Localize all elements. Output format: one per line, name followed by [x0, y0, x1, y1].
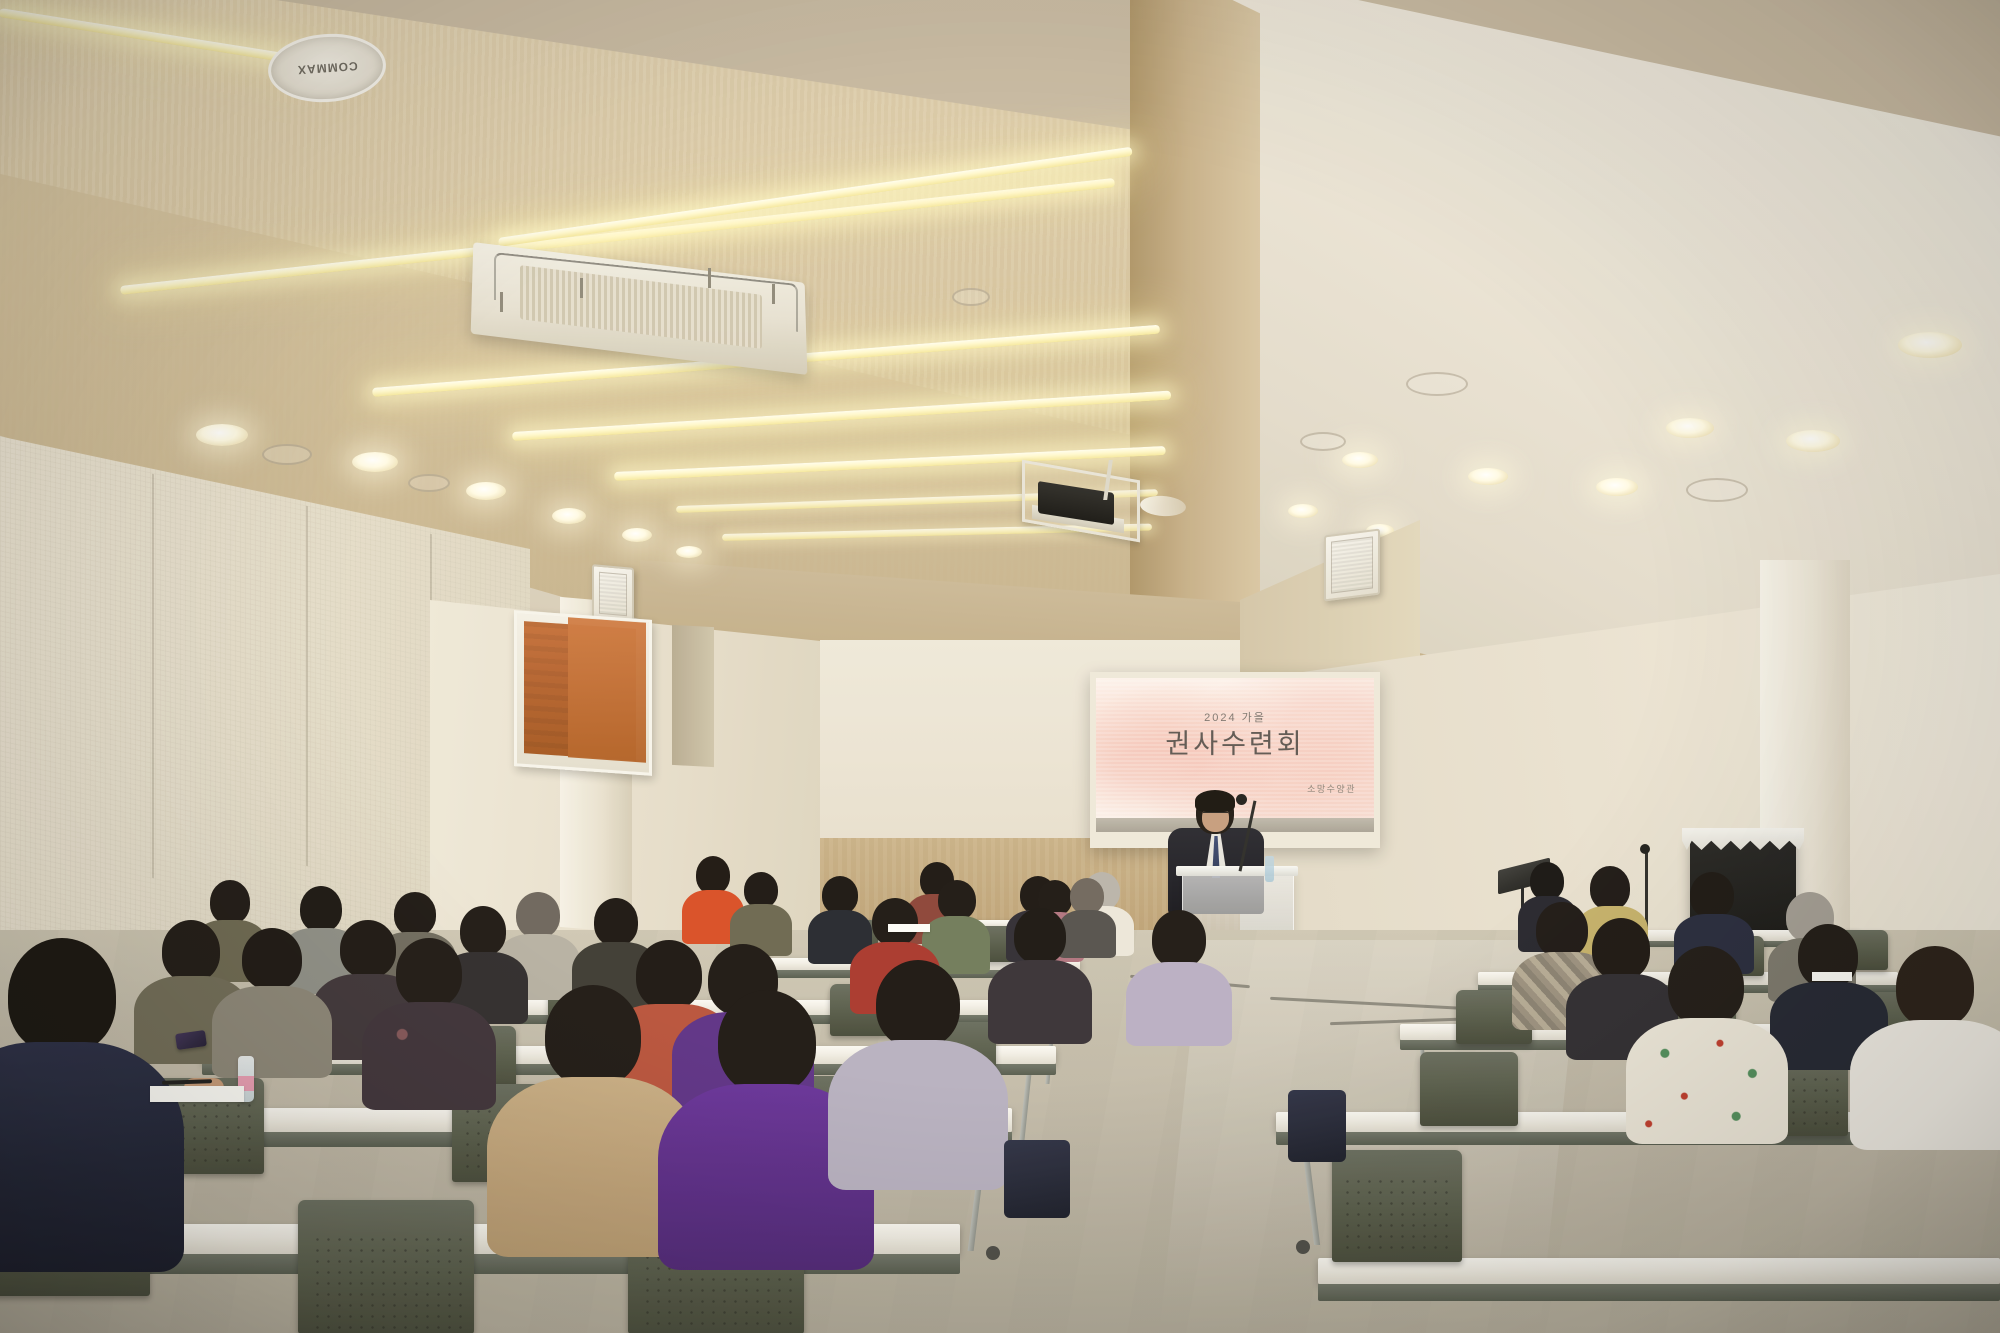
sprinkler-ring-icon: [262, 444, 312, 465]
person-head: [744, 872, 778, 908]
person-head: [210, 880, 250, 924]
person-head: [718, 990, 816, 1094]
microphone-stand-head-icon: [1640, 844, 1650, 854]
chair: [1420, 1052, 1518, 1126]
table-edge: [1318, 1284, 2000, 1301]
person-body: [1126, 962, 1232, 1046]
person-head: [1536, 902, 1588, 958]
person-head: [460, 906, 506, 956]
person-head: [822, 876, 858, 914]
person-head: [340, 920, 396, 978]
person-body: [1626, 1018, 1788, 1144]
speaker-grille: [599, 572, 627, 616]
microphone-head-icon: [1236, 794, 1247, 805]
paper-sheet: [888, 924, 930, 932]
wall-seam: [152, 474, 154, 878]
person-head: [516, 892, 560, 938]
person-head: [1592, 918, 1650, 980]
ac-guard-post: [580, 278, 583, 298]
person-head: [545, 985, 641, 1087]
person-head: [636, 940, 702, 1010]
person-head: [242, 928, 302, 990]
person-head: [872, 898, 918, 946]
downlight-icon: [676, 546, 702, 558]
seminar-room-photo: COMMAX: [0, 0, 2000, 1333]
downlight-icon: [1898, 332, 1962, 358]
person-head: [162, 920, 220, 982]
slide-main-title: 권사수련회: [1096, 722, 1374, 761]
sprinkler-ring-icon: [1686, 478, 1748, 502]
wall-speaker-icon: [1324, 529, 1380, 602]
ac-guard-post: [708, 268, 711, 288]
downlight-icon: [1666, 418, 1714, 438]
handbag: [1288, 1090, 1346, 1162]
wall-niche: [672, 625, 714, 767]
downlight-icon: [352, 452, 398, 472]
person-head: [8, 938, 116, 1054]
wall-speaker-icon: [592, 564, 634, 624]
downlight-icon: [1786, 430, 1840, 452]
person-head: [696, 856, 730, 894]
person-head: [938, 880, 976, 920]
speaker-hair: [1195, 790, 1235, 812]
paper-sheet: [1812, 972, 1852, 981]
person-body: [212, 986, 332, 1078]
person-head: [1014, 908, 1066, 964]
ac-guard-post: [772, 284, 775, 304]
person-head: [594, 898, 638, 946]
ac-guard-post: [500, 292, 503, 312]
downlight-icon: [1342, 452, 1378, 468]
sprinkler-ring-icon: [1300, 432, 1346, 451]
downlight-icon: [552, 508, 586, 524]
podium-top-surface: [1176, 866, 1298, 876]
person-head: [1668, 946, 1744, 1026]
downlight-icon: [196, 424, 248, 446]
person-head: [876, 960, 960, 1048]
person-body: [988, 960, 1092, 1044]
person-body: [828, 1040, 1008, 1190]
table-caster: [986, 1246, 1000, 1260]
projection-screen: 2024 가을 권사수련회 소망수양관: [1096, 678, 1374, 830]
chair-perforation: [312, 1234, 462, 1332]
person-body: [1058, 910, 1116, 958]
microphone-stand-pole: [1645, 850, 1648, 930]
handbag: [1004, 1140, 1070, 1218]
person-body: [0, 1042, 184, 1272]
sprinkler-ring-icon: [1406, 372, 1468, 396]
chair-perforation: [1342, 1176, 1454, 1254]
slide-venue-label: 소망수양관: [1307, 782, 1356, 795]
downlight-icon: [1288, 504, 1318, 518]
person-head: [1690, 872, 1734, 918]
person-head: [1070, 878, 1104, 914]
paper-sheet: [150, 1086, 244, 1102]
person-body: [362, 1002, 496, 1110]
speaker-grille: [1331, 536, 1373, 593]
speaker-glasses-icon: [1203, 812, 1228, 819]
commax-brand-label: COMMAX: [296, 59, 358, 77]
downlight-icon: [1468, 468, 1508, 485]
downlight-icon: [466, 482, 506, 500]
person-head: [1530, 862, 1564, 900]
person-head: [1152, 910, 1206, 968]
person-head: [1896, 946, 1974, 1028]
sprinkler-ring-icon: [408, 474, 450, 492]
wooden-notice-board-panel: [568, 617, 646, 762]
downlight-icon: [622, 528, 652, 542]
person-head: [394, 892, 436, 936]
person-head: [396, 938, 462, 1008]
person-head: [1590, 866, 1630, 910]
podium-water-bottle: [1265, 856, 1274, 882]
person-body: [1850, 1020, 2000, 1150]
person-head: [300, 886, 342, 932]
table-caster: [1296, 1240, 1310, 1254]
wall-seam: [306, 506, 308, 866]
sprinkler-ring-icon: [952, 288, 990, 306]
downlight-icon: [1596, 478, 1638, 496]
